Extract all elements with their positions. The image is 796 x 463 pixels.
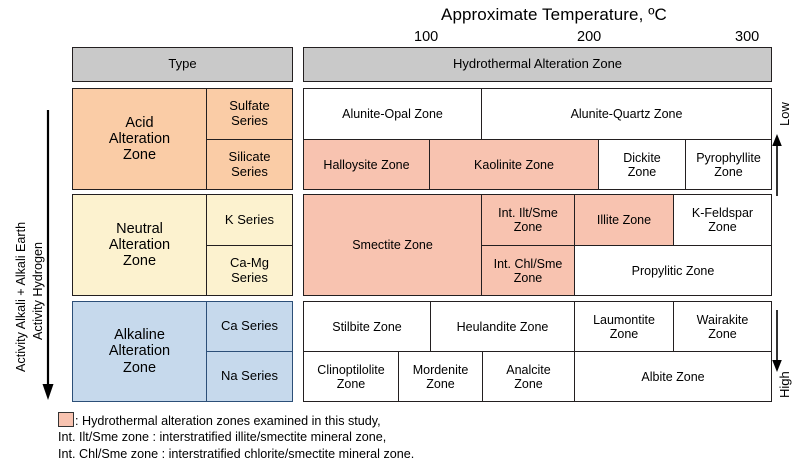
series-na: Na Series xyxy=(206,351,293,402)
zone-propylitic: Propylitic Zone xyxy=(574,245,772,296)
zone-wairakite: Wairakite Zone xyxy=(673,301,772,352)
zone-pyrophyllite-line2: Zone xyxy=(712,165,745,179)
zone-halloysite-label: Halloysite Zone xyxy=(321,158,411,172)
zone-int-ilt-sme-line2: Zone xyxy=(512,220,545,234)
zone-dickite: Dickite Zone xyxy=(598,139,686,190)
zone-k-feldspar-line1: K-Feldspar xyxy=(690,206,755,220)
zone-int-chl-sme-line2: Zone xyxy=(512,271,545,285)
zone-heulandite: Heulandite Zone xyxy=(430,301,575,352)
legend-studied-text: : Hydrothermal alteration zones examined… xyxy=(75,414,381,428)
zone-laumontite-line2: Zone xyxy=(608,327,641,341)
zone-alunite-opal: Alunite-Opal Zone xyxy=(303,88,482,140)
zone-analcite-line1: Analcite xyxy=(504,363,552,377)
zone-pyrophyllite: Pyrophyllite Zone xyxy=(685,139,772,190)
zone-int-ilt-sme: Int. Ilt/Sme Zone xyxy=(481,194,575,246)
group-alkaline-line3: Zone xyxy=(121,360,158,376)
zone-propylitic-label: Propylitic Zone xyxy=(630,264,717,278)
series-sulfate: Sulfate Series xyxy=(206,88,293,140)
zone-int-chl-sme: Int. Chl/Sme Zone xyxy=(481,245,575,296)
y-axis-label-line1: Activity Alkali + Alkali Earth xyxy=(14,222,28,372)
zone-wairakite-line2: Zone xyxy=(706,327,739,341)
legend-line-1: : Hydrothermal alteration zones examined… xyxy=(58,412,381,429)
chart-title: Approximate Temperature, ºC xyxy=(441,5,667,25)
legend-line-3: Int. Chl/Sme zone : interstratified chlo… xyxy=(58,446,414,462)
zone-wairakite-line1: Wairakite xyxy=(695,313,751,327)
zone-smectite: Smectite Zone xyxy=(303,194,482,296)
zone-k-feldspar: K-Feldspar Zone xyxy=(673,194,772,246)
zone-mordenite: Mordenite Zone xyxy=(398,351,483,402)
header-zone-label: Hydrothermal Alteration Zone xyxy=(451,57,624,72)
group-neutral-line1: Neutral xyxy=(114,221,165,237)
left-axis-arrow-icon xyxy=(41,110,55,400)
series-silicate: Silicate Series xyxy=(206,139,293,190)
group-acid-line1: Acid xyxy=(123,115,155,131)
group-acid-alteration-zone: Acid Alteration Zone xyxy=(72,88,207,190)
series-na-label: Na Series xyxy=(219,369,280,384)
series-k: K Series xyxy=(206,194,293,246)
zone-alunite-opal-label: Alunite-Opal Zone xyxy=(340,107,445,121)
series-sulfate-line1: Sulfate xyxy=(227,99,271,114)
zone-albite-label: Albite Zone xyxy=(639,370,706,384)
group-alkaline-line1: Alkaline xyxy=(112,327,167,343)
zone-laumontite-line1: Laumontite xyxy=(591,313,657,327)
low-arrow-up-icon xyxy=(770,134,784,196)
zone-illite-label: Illite Zone xyxy=(595,213,653,227)
zone-int-ilt-sme-line1: Int. Ilt/Sme xyxy=(496,206,560,220)
group-alkaline-line2: Alteration xyxy=(107,343,172,359)
zone-mordenite-line2: Zone xyxy=(424,377,457,391)
series-sulfate-line2: Series xyxy=(229,114,270,129)
zone-illite: Illite Zone xyxy=(574,194,674,246)
zone-pyrophyllite-line1: Pyrophyllite xyxy=(694,151,763,165)
zone-analcite-line2: Zone xyxy=(512,377,545,391)
series-ca-mg: Ca-Mg Series xyxy=(206,245,293,296)
zone-dickite-line1: Dickite xyxy=(621,151,663,165)
x-tick-100: 100 xyxy=(414,29,438,45)
zone-analcite: Analcite Zone xyxy=(482,351,575,402)
series-k-label: K Series xyxy=(223,213,276,228)
legend-swatch-studied-icon xyxy=(58,412,74,427)
zone-clinoptilolite-line1: Clinoptilolite xyxy=(315,363,386,377)
series-ca: Ca Series xyxy=(206,301,293,352)
zone-k-feldspar-line2: Zone xyxy=(706,220,739,234)
header-type: Type xyxy=(72,47,293,82)
zone-smectite-label: Smectite Zone xyxy=(350,238,435,252)
zone-halloysite: Halloysite Zone xyxy=(303,139,430,190)
right-axis-label-high: High xyxy=(777,371,792,398)
series-silicate-line2: Series xyxy=(229,165,270,180)
group-neutral-alteration-zone: Neutral Alteration Zone xyxy=(72,194,207,296)
group-neutral-line3: Zone xyxy=(121,253,158,269)
series-ca-mg-line2: Series xyxy=(229,271,270,286)
series-ca-mg-line1: Ca-Mg xyxy=(228,256,271,271)
high-arrow-down-icon xyxy=(770,310,784,372)
zone-alunite-quartz-label: Alunite-Quartz Zone xyxy=(569,107,685,121)
group-neutral-line2: Alteration xyxy=(107,237,172,253)
zone-laumontite: Laumontite Zone xyxy=(574,301,674,352)
zone-stilbite: Stilbite Zone xyxy=(303,301,431,352)
zone-clinoptilolite-line2: Zone xyxy=(335,377,368,391)
zone-albite: Albite Zone xyxy=(574,351,772,402)
zone-heulandite-label: Heulandite Zone xyxy=(455,320,551,334)
zone-alunite-quartz: Alunite-Quartz Zone xyxy=(481,88,772,140)
zone-int-chl-sme-line1: Int. Chl/Sme xyxy=(492,257,565,271)
group-acid-line3: Zone xyxy=(121,147,158,163)
zone-dickite-line2: Zone xyxy=(626,165,659,179)
x-tick-200: 200 xyxy=(577,29,601,45)
series-ca-label: Ca Series xyxy=(219,319,280,334)
series-silicate-line1: Silicate xyxy=(227,150,273,165)
header-type-label: Type xyxy=(166,57,198,72)
zone-clinoptilolite: Clinoptilolite Zone xyxy=(303,351,399,402)
group-alkaline-alteration-zone: Alkaline Alteration Zone xyxy=(72,301,207,402)
x-tick-300: 300 xyxy=(735,29,759,45)
legend-line-2: Int. Ilt/Sme zone : interstratified illi… xyxy=(58,429,386,445)
zone-kaolinite: Kaolinite Zone xyxy=(429,139,599,190)
zone-mordenite-line1: Mordenite xyxy=(411,363,471,377)
zone-kaolinite-label: Kaolinite Zone xyxy=(472,158,556,172)
right-axis-label-low: Low xyxy=(777,102,792,126)
group-acid-line2: Alteration xyxy=(107,131,172,147)
header-hydrothermal-alteration-zone: Hydrothermal Alteration Zone xyxy=(303,47,772,82)
zone-stilbite-label: Stilbite Zone xyxy=(330,320,403,334)
